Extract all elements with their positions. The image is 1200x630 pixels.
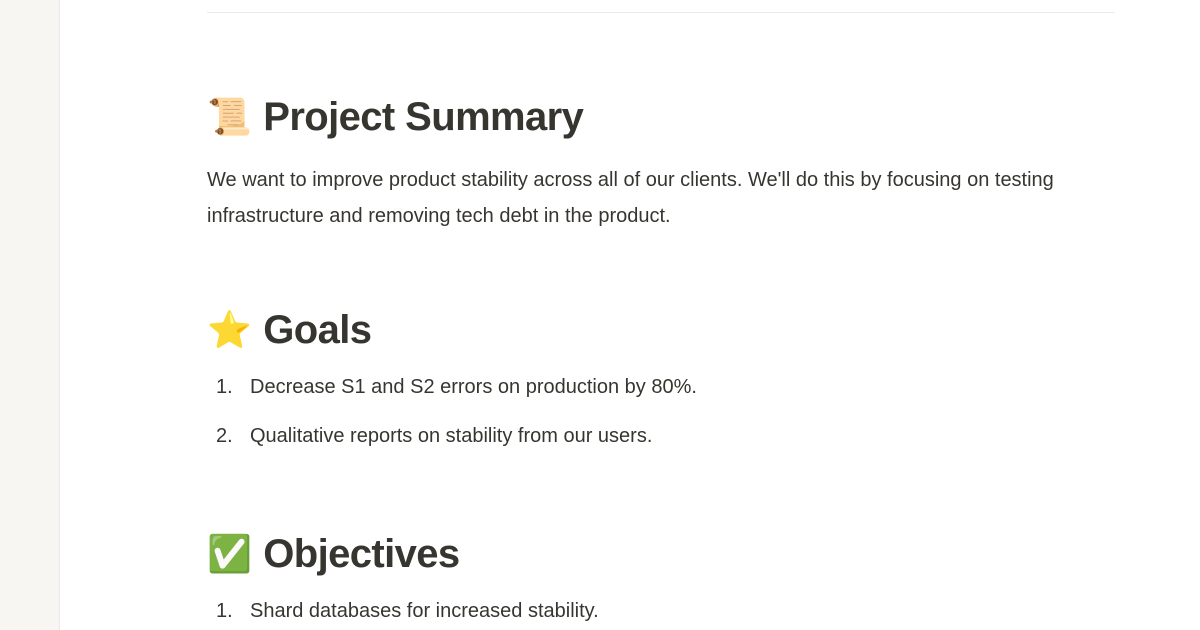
goals-heading[interactable]: ⭐ Goals xyxy=(207,306,1115,354)
list-item-text: Qualitative reports on stability from ou… xyxy=(250,425,652,447)
document-scroll-area[interactable]: 📜 Project Summary We want to improve pro… xyxy=(60,0,1200,630)
objectives-heading[interactable]: ✅ Objectives xyxy=(207,530,1115,578)
goals-heading-text: Goals xyxy=(263,306,371,354)
project-summary-heading[interactable]: 📜 Project Summary xyxy=(207,93,1115,141)
objectives-list: 1. Shard databases for increased stabili… xyxy=(207,596,1115,627)
check-mark-button-icon: ✅ xyxy=(207,536,251,572)
collapsed-sidebar-strip[interactable] xyxy=(0,0,60,630)
list-marker: 1. xyxy=(216,372,233,403)
objectives-heading-text: Objectives xyxy=(263,530,459,578)
list-item-text: Shard databases for increased stability. xyxy=(250,600,599,622)
top-divider xyxy=(207,12,1115,13)
goals-list: 1. Decrease S1 and S2 errors on producti… xyxy=(207,372,1115,452)
scroll-icon: 📜 xyxy=(207,99,251,135)
project-summary-paragraph[interactable]: We want to improve product stability acr… xyxy=(207,163,1067,234)
star-icon: ⭐ xyxy=(207,312,251,348)
list-item[interactable]: 1. Decrease S1 and S2 errors on producti… xyxy=(207,372,1115,403)
list-item-text: Decrease S1 and S2 errors on production … xyxy=(250,376,697,398)
list-marker: 2. xyxy=(216,421,233,452)
list-item[interactable]: 2. Qualitative reports on stability from… xyxy=(207,421,1115,452)
document-content-column: 📜 Project Summary We want to improve pro… xyxy=(207,0,1115,630)
list-marker: 1. xyxy=(216,596,233,627)
document-page: 📜 Project Summary We want to improve pro… xyxy=(0,0,1200,630)
project-summary-heading-text: Project Summary xyxy=(263,93,583,141)
list-item[interactable]: 1. Shard databases for increased stabili… xyxy=(207,596,1115,627)
